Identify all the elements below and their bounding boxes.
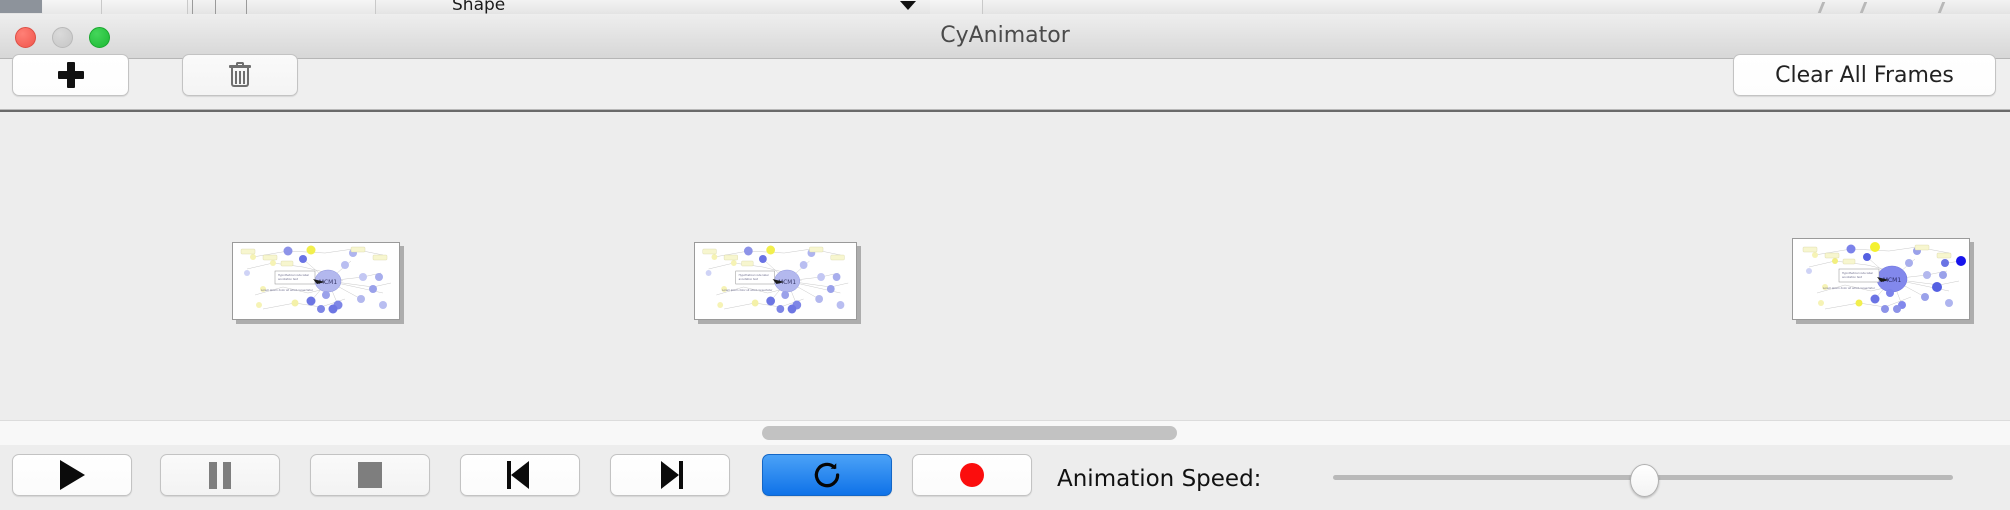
svg-text:annotation text: annotation text — [278, 277, 298, 281]
bg-tick — [192, 0, 193, 14]
svg-text:Lorem ipsum dolor sit amet con: Lorem ipsum dolor sit amet consectetur — [1823, 286, 1876, 290]
pause-button[interactable] — [160, 454, 280, 496]
background-window-chip — [0, 0, 42, 13]
clear-all-frames-label: Clear All Frames — [1775, 63, 1954, 88]
timeline-frame-thumbnail[interactable]: MCM1 — [1792, 238, 1970, 320]
svg-text:Hypothetical node label: Hypothetical node label — [1842, 271, 1873, 275]
record-button[interactable] — [912, 454, 1032, 496]
timeline-frame-thumbnail[interactable]: MCM1 — [232, 242, 400, 320]
bg-tick — [215, 0, 216, 14]
trash-icon — [229, 62, 251, 88]
background-window-strip: Shape — [0, 0, 2010, 15]
loop-icon — [812, 460, 842, 490]
play-button[interactable] — [12, 454, 132, 496]
background-window-title: Shape — [452, 0, 505, 15]
transport-bar: Animation Speed: — [0, 445, 2010, 510]
timeline-panel[interactable]: MCM1 — [0, 110, 2010, 422]
network-thumbnail-pale: MCM1 — [695, 243, 856, 319]
scrollbar-thumb[interactable] — [762, 426, 1177, 440]
svg-text:annotation text: annotation text — [1842, 275, 1862, 279]
skip-back-icon — [507, 461, 533, 489]
bg-cursor-arrow — [900, 1, 916, 10]
plus-icon — [58, 62, 84, 88]
animation-speed-label: Animation Speed: — [1057, 466, 1261, 492]
toolbar — [0, 59, 2010, 110]
title-bar: CyAnimator — [0, 14, 2010, 59]
svg-text:Hypothetical node label: Hypothetical node label — [278, 273, 309, 277]
pause-icon — [209, 462, 231, 489]
svg-text:MCM1: MCM1 — [778, 280, 796, 286]
stop-button[interactable] — [310, 454, 430, 496]
bg-slash — [1818, 2, 1839, 13]
window-title: CyAnimator — [0, 14, 2010, 58]
network-thumbnail-bright: MCM1 — [1793, 239, 1969, 319]
clear-all-frames-button[interactable]: Clear All Frames — [1733, 54, 1996, 96]
previous-frame-button[interactable] — [460, 454, 580, 496]
bg-seg — [43, 0, 102, 14]
stop-icon — [358, 462, 382, 488]
animation-speed-slider-thumb[interactable] — [1630, 464, 1659, 497]
svg-text:Lorem ipsum dolor sit amet con: Lorem ipsum dolor sit amet consectetur — [722, 288, 773, 292]
play-icon — [60, 460, 85, 490]
add-frame-button[interactable] — [12, 54, 129, 96]
network-thumbnail-pale: MCM1 — [233, 243, 399, 319]
bg-tick — [246, 0, 247, 14]
loop-button[interactable] — [762, 454, 892, 496]
bg-seg — [102, 0, 188, 14]
svg-text:annotation text: annotation text — [739, 277, 758, 281]
svg-text:Lorem ipsum dolor sit amet con: Lorem ipsum dolor sit amet consectetur — [261, 288, 314, 292]
delete-frame-button[interactable] — [182, 54, 298, 96]
timeline-frame-thumbnail[interactable]: MCM1 — [694, 242, 857, 320]
bg-slash — [1938, 2, 1959, 13]
bg-slash — [1860, 2, 1881, 13]
timeline-horizontal-scrollbar[interactable] — [0, 420, 2010, 446]
record-icon — [960, 463, 984, 487]
cyanimator-window: Shape CyAnimator Clear All Frames — [0, 0, 2010, 510]
skip-forward-icon — [657, 461, 683, 489]
svg-text:Hypothetical node label: Hypothetical node label — [739, 273, 769, 277]
bg-seg — [300, 0, 376, 14]
next-frame-button[interactable] — [610, 454, 730, 496]
bg-seg — [930, 0, 983, 14]
